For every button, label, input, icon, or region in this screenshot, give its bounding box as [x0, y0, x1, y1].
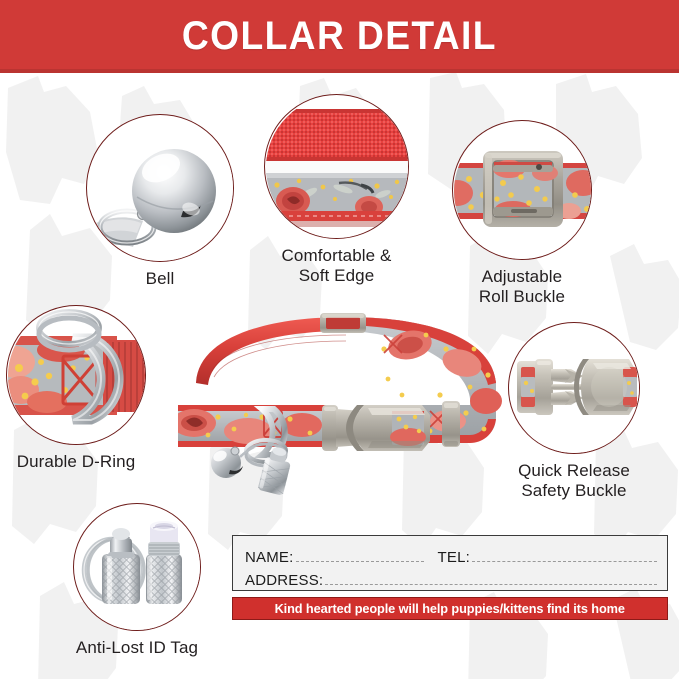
feature-soft-edge: Comfortable & Soft Edge	[264, 94, 409, 286]
name-label: NAME:	[245, 549, 294, 566]
id-info-card: NAME: TEL: ADDRESS:	[232, 535, 668, 591]
feature-soft-edge-label: Comfortable & Soft Edge	[282, 246, 392, 286]
feature-bell-label: Bell	[146, 269, 175, 289]
feature-d-ring-label: Durable D-Ring	[17, 452, 136, 472]
feature-bell: Bell	[86, 114, 234, 289]
bell-icon	[87, 115, 234, 262]
feature-roll-buckle-image	[452, 120, 592, 260]
feature-roll-buckle: Adjustable Roll Buckle	[452, 120, 592, 307]
tel-input[interactable]	[472, 561, 657, 562]
help-message-banner: Kind hearted people will help puppies/ki…	[232, 597, 668, 620]
product-collar-image	[178, 305, 514, 495]
tel-label: TEL:	[438, 549, 470, 566]
side-release-buckle-icon	[509, 323, 640, 454]
feature-quick-release-image	[508, 322, 640, 454]
page-title: COLLAR DETAIL	[182, 14, 497, 59]
help-message-text: Kind hearted people will help puppies/ki…	[275, 601, 625, 616]
feature-bell-image	[86, 114, 234, 262]
feature-id-tag-image	[73, 503, 201, 631]
feature-d-ring: Durable D-Ring	[6, 305, 146, 472]
feature-roll-buckle-label: Adjustable Roll Buckle	[479, 267, 565, 307]
d-ring-icon	[7, 306, 146, 445]
name-input[interactable]	[296, 561, 424, 562]
roll-buckle-icon	[453, 121, 592, 260]
feature-id-tag-label: Anti-Lost ID Tag	[76, 638, 198, 658]
card-row-address: ADDRESS:	[245, 566, 657, 589]
feature-soft-edge-image	[264, 94, 409, 239]
collar-detail-infographic: COLLAR DETAIL	[0, 0, 679, 679]
feature-quick-release: Quick Release Safety Buckle	[508, 322, 640, 501]
feature-d-ring-image	[6, 305, 146, 445]
id-tag-capsule-icon	[74, 504, 201, 631]
header-banner: COLLAR DETAIL	[0, 0, 679, 73]
card-row-name-tel: NAME: TEL:	[245, 543, 657, 566]
collar-webbing-icon	[265, 95, 409, 239]
feature-id-tag: Anti-Lost ID Tag	[73, 503, 201, 658]
address-input[interactable]	[325, 584, 657, 585]
address-label: ADDRESS:	[245, 572, 323, 589]
feature-quick-release-label: Quick Release Safety Buckle	[518, 461, 630, 501]
